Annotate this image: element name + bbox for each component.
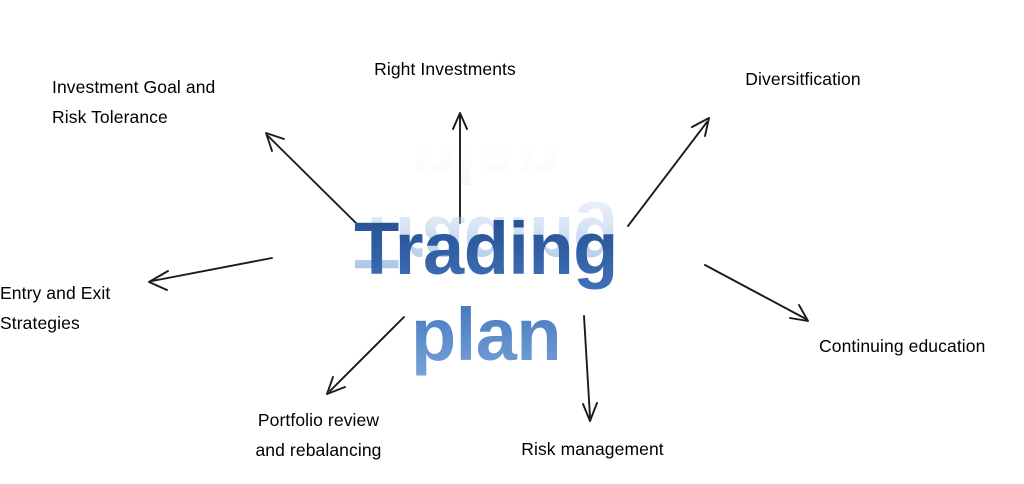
center-node: Trading plan Trading plan <box>276 206 696 326</box>
node-label-risk-management: Risk management <box>495 434 690 464</box>
center-title: Trading plan <box>276 206 696 378</box>
node-label-diversitfication: Diversitfication <box>713 64 893 94</box>
node-label-investment-goal-and-risk-tolerance: Investment Goal and Risk Tolerance <box>52 72 302 132</box>
diagram-canvas: Trading plan Trading plan Investment Goa… <box>0 0 1024 484</box>
node-label-portfolio-review-and-rebalancing: Portfolio review and rebalancing <box>231 405 406 465</box>
arrow-to-entry-and-exit <box>149 258 272 290</box>
node-label-continuing-education: Continuing education <box>819 331 1024 361</box>
node-label-right-investments: Right Investments <box>340 54 550 84</box>
node-label-entry-and-exit-strategies: Entry and Exit Strategies <box>0 278 160 338</box>
arrow-to-continuing-education <box>705 265 808 321</box>
